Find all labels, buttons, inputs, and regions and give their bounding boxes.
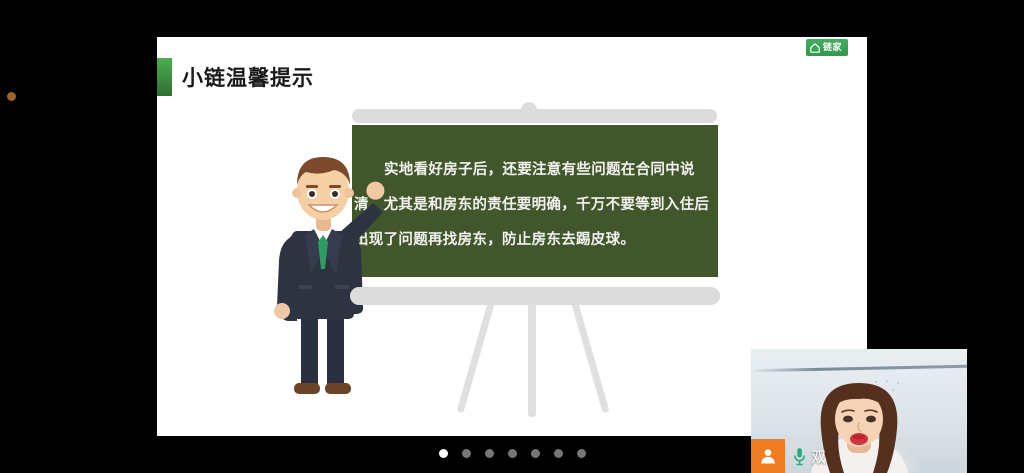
businessman-illustration	[261, 145, 391, 400]
avatar[interactable]	[751, 439, 785, 473]
microphone-icon[interactable]	[793, 447, 806, 466]
slide-title-row: 小链温馨提示	[157, 58, 314, 96]
page-dot-3[interactable]	[485, 449, 494, 458]
page-dot-4[interactable]	[508, 449, 517, 458]
brand-badge: 链家	[806, 39, 848, 56]
page-title: 小链温馨提示	[182, 62, 314, 92]
speaker-video-overlay[interactable]: 双	[751, 349, 967, 473]
easel-top-bar	[352, 109, 717, 123]
whiteboard-edge-line	[751, 365, 967, 373]
page-dot-5[interactable]	[531, 449, 540, 458]
page-dot-7[interactable]	[577, 449, 586, 458]
chalkboard: 实地看好房子后，还要注意有些问题在合同中说清，尤其是和房东的责任要明确，千万不要…	[352, 125, 718, 277]
easel-leg-left	[457, 294, 497, 413]
video-player-stage[interactable]: 实地看好房子后，还要注意有些问题在合同中说清，尤其是和房东的责任要明确，千万不要…	[0, 0, 1024, 473]
speaker-name: 双	[811, 446, 826, 467]
page-dot-1[interactable]	[439, 449, 448, 458]
user-avatar-icon	[758, 446, 778, 466]
easel-leg-right	[569, 294, 609, 413]
mic-and-name-group[interactable]: 双	[785, 439, 834, 473]
easel-leg-center	[528, 295, 536, 417]
page-dot-6[interactable]	[554, 449, 563, 458]
video-overlay-controls[interactable]: 双	[751, 439, 834, 473]
brand-badge-label: 链家	[823, 43, 842, 52]
title-accent-bar	[157, 58, 172, 96]
page-dot-2[interactable]	[462, 449, 471, 458]
house-icon	[810, 43, 820, 53]
easel-bottom-tray	[350, 287, 720, 305]
left-indicator-dot	[7, 92, 16, 101]
chalkboard-text: 实地看好房子后，还要注意有些问题在合同中说清，尤其是和房东的责任要明确，千万不要…	[352, 125, 718, 277]
